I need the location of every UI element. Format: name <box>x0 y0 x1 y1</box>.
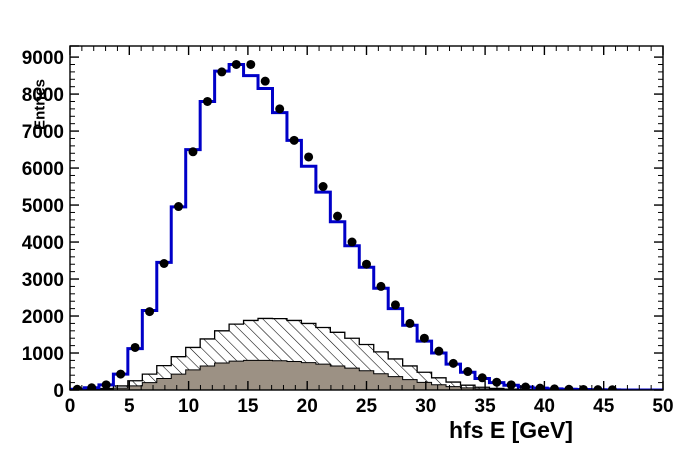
data-point-marker <box>246 60 255 69</box>
data-point-marker <box>420 334 429 343</box>
y-axis-tick-label: 8000 <box>22 85 64 106</box>
data-point-marker <box>463 367 472 376</box>
data-point-marker <box>116 370 125 379</box>
data-point-marker <box>304 152 313 161</box>
y-axis-tick-label: 0 <box>53 381 64 402</box>
data-point-marker <box>275 104 284 113</box>
data-point-marker <box>348 238 357 247</box>
data-point-marker <box>507 380 516 389</box>
y-axis-tick-label: 7000 <box>22 122 64 143</box>
x-axis-tick-label: 45 <box>593 396 615 417</box>
x-axis-tick-label: 30 <box>415 396 436 417</box>
x-axis-tick-label: 15 <box>237 396 259 417</box>
data-point-marker <box>232 60 241 69</box>
y-axis-tick-label: 6000 <box>22 159 64 180</box>
y-axis-tick-label: 1000 <box>22 344 64 365</box>
data-point-marker <box>333 212 342 221</box>
x-axis-tick-label: 40 <box>534 396 555 417</box>
y-axis-tick-label: 2000 <box>22 307 64 328</box>
data-point-marker <box>405 319 414 328</box>
y-axis-tick-label: 4000 <box>22 233 64 254</box>
y-axis-tick-label: 9000 <box>22 48 64 69</box>
data-point-marker <box>362 260 371 269</box>
plot-canvas: 0510152025303540455001000200030004000500… <box>0 0 696 472</box>
data-point-marker <box>145 307 154 316</box>
data-point-marker <box>188 147 197 156</box>
data-point-marker <box>160 259 169 268</box>
x-axis-tick-label: 20 <box>297 396 318 417</box>
x-axis-tick-label: 10 <box>178 396 199 417</box>
data-point-marker <box>449 359 458 368</box>
data-point-marker <box>478 373 487 382</box>
histogram-plot: 0510152025303540455001000200030004000500… <box>0 0 696 472</box>
data-point-marker <box>174 202 183 211</box>
y-axis-tick-label: 3000 <box>22 270 64 291</box>
x-axis-tick-label: 5 <box>124 396 135 417</box>
x-axis-tick-label: 0 <box>65 396 76 417</box>
data-point-marker <box>290 136 299 145</box>
x-axis-tick-label: 50 <box>652 396 673 417</box>
data-point-marker <box>376 282 385 291</box>
data-point-marker <box>319 182 328 191</box>
data-point-marker <box>391 300 400 309</box>
data-point-marker <box>203 97 212 106</box>
x-axis-tick-label: 35 <box>475 396 497 417</box>
data-point-marker <box>261 77 270 86</box>
data-point-marker <box>102 380 111 389</box>
data-point-marker <box>434 347 443 356</box>
y-axis-tick-label: 5000 <box>22 196 64 217</box>
data-point-marker <box>131 343 140 352</box>
x-axis-title: hfs E [GeV] <box>449 417 573 444</box>
x-axis-tick-label: 25 <box>356 396 378 417</box>
data-point-marker <box>217 67 226 76</box>
background-rect <box>0 0 696 472</box>
